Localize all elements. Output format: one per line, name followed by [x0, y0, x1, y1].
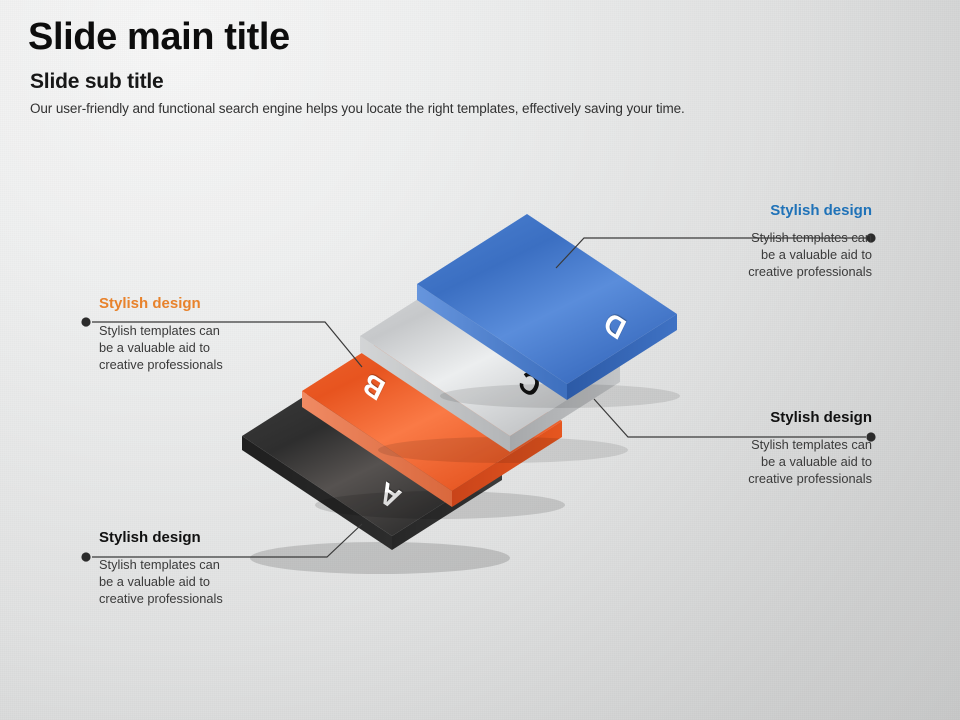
callout-a-body: Stylish templates can be a valuable aid … [99, 556, 349, 608]
page-title: Slide main title [28, 18, 685, 58]
page-subtitle: Slide sub title [30, 70, 685, 94]
callout-c-body: Stylish templates can be a valuable aid … [632, 436, 872, 488]
callout-d-title: Stylish design [632, 203, 872, 220]
callout-b-title: Stylish design [99, 296, 349, 313]
page-description: Our user-friendly and functional search … [30, 101, 685, 116]
callout-a-title: Stylish design [99, 530, 349, 547]
slide-header: Slide main title Slide sub title Our use… [28, 18, 685, 116]
callout-d-body: Stylish templates can be a valuable aid … [632, 229, 872, 281]
slide-canvas: Slide main title Slide sub title Our use… [0, 0, 960, 720]
callout-b: Stylish design Stylish templates can be … [99, 296, 349, 373]
callout-a: Stylish design Stylish templates can be … [99, 530, 349, 607]
callout-c-title: Stylish design [632, 410, 872, 427]
callout-c: Stylish design Stylish templates can be … [632, 410, 872, 487]
callout-b-body: Stylish templates can be a valuable aid … [99, 322, 349, 374]
callout-d: Stylish design Stylish templates can be … [632, 203, 872, 280]
